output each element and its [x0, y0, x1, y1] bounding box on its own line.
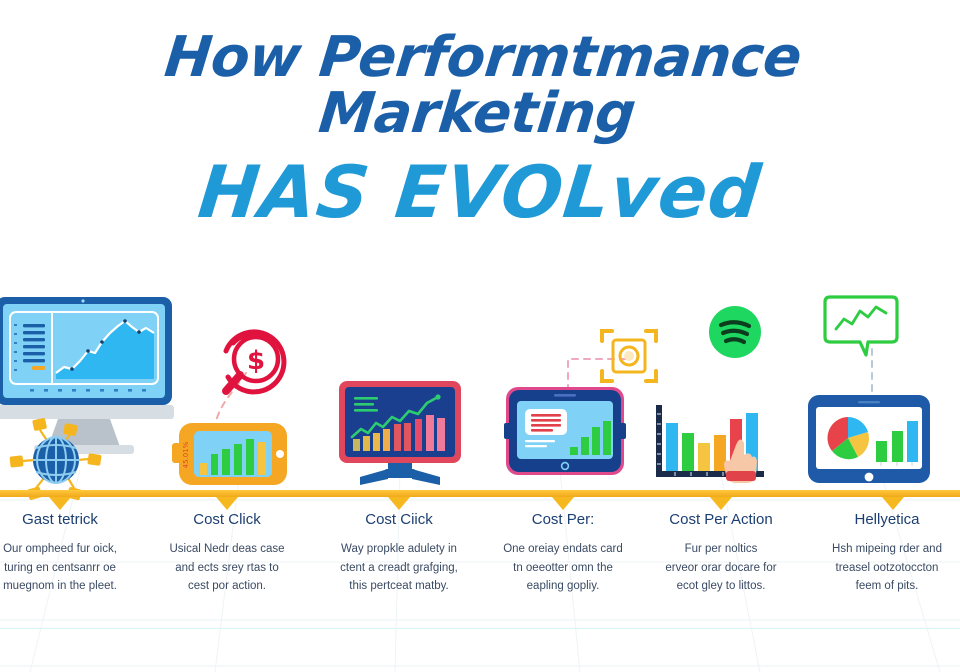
monitor-line-bar-chart-icon — [330, 381, 470, 485]
stage-title-5: Cost Per Action — [640, 511, 802, 528]
headline-line-2: HAS EVOLved — [0, 156, 960, 228]
headline-line-1: How Performtmance Marketing — [0, 30, 960, 142]
stage-body-1: Our ompheed fur oick, turing en centsanr… — [0, 540, 135, 596]
stage-title-2: Cost Click — [152, 511, 302, 528]
stage-column-1: Gast tetrick Our ompheed fur oick, turin… — [0, 511, 135, 596]
background-accent-line — [0, 628, 960, 629]
stage-column-2: Cost Click Usical Nedr deas case and ect… — [152, 511, 302, 596]
stage-1-icons — [0, 295, 184, 485]
stage-title-4: Cost Per: — [488, 511, 638, 528]
page-title: How Performtmance Marketing HAS EVOLved — [0, 30, 960, 228]
stage-body-2: Usical Nedr deas case and ects srey rtas… — [152, 540, 302, 596]
smartphone-bar-chart-icon: 45.01% — [172, 421, 294, 487]
stage-title-6: Hellyetica — [812, 511, 960, 528]
stage-3-icons — [330, 381, 470, 490]
magnifier-dollar-icon: $ — [212, 325, 296, 409]
camera-scan-frame-icon — [598, 325, 660, 387]
stage-column-5: Cost Per Action Fur per noltics erveor o… — [640, 511, 802, 596]
tablet-pie-bar-chart-icon — [806, 393, 932, 487]
icon-stage: $ 45.01% — [0, 285, 960, 495]
infographic-canvas: How Performtmance Marketing HAS EVOLved — [0, 0, 960, 672]
stage-column-6: Hellyetica Hsh mipeing rder and treasel … — [812, 511, 960, 596]
timeline-marker-4[interactable] — [552, 497, 574, 510]
stage-title-1: Gast tetrick — [0, 511, 135, 528]
svg-text:45.01%: 45.01% — [182, 441, 190, 468]
stage-body-3: Way propkle adulety in ctent a creadt gr… — [324, 540, 474, 596]
stage-title-3: Cost Ciick — [324, 511, 474, 528]
stage-body-5: Fur per noltics erveor orar docare for e… — [640, 540, 802, 596]
spotify-circle-icon — [708, 305, 762, 359]
stage-column-4: Cost Per: One oreiay endats card tn oeeo… — [488, 511, 638, 596]
stage-column-3: Cost Ciick Way propkle adulety in ctent … — [324, 511, 474, 596]
timeline-marker-1[interactable] — [49, 497, 71, 510]
stage-body-4: One oreiay endats card tn oeeotter omn t… — [488, 540, 638, 596]
timeline-bar — [0, 490, 960, 497]
svg-text:$: $ — [247, 346, 265, 376]
timeline-marker-3[interactable] — [388, 497, 410, 510]
tablet-report-chart-icon — [504, 385, 626, 477]
timeline-marker-5[interactable] — [710, 497, 732, 510]
speech-bubble-line-chart-icon — [822, 293, 900, 363]
timeline-marker-2[interactable] — [216, 497, 238, 510]
bar-chart-hand-pointer-icon — [650, 401, 772, 483]
stage-body-6: Hsh mipeing rder and treasel ootzotoccto… — [812, 540, 960, 596]
timeline-marker-6[interactable] — [882, 497, 904, 510]
